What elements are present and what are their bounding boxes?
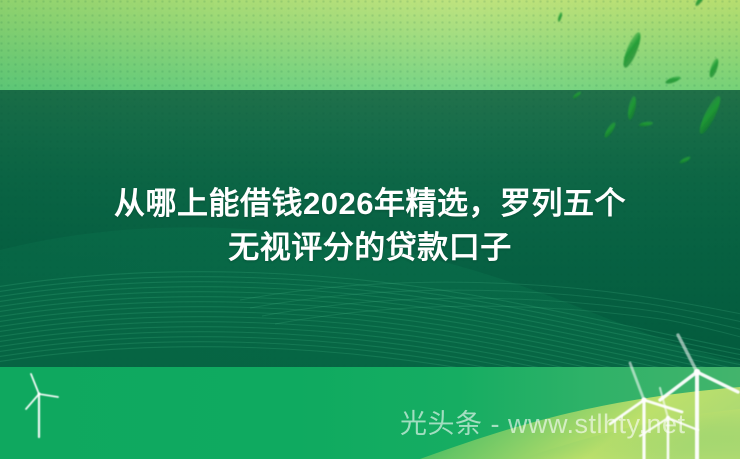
watermark: 光头条 - www.stlhty.net: [400, 408, 686, 440]
wind-turbine-large: [660, 335, 738, 459]
page-title: 从哪上能借钱2026年精选，罗列五个 无视评分的贷款口子: [0, 182, 740, 270]
poster-image: 从哪上能借钱2026年精选，罗列五个 无视评分的贷款口子 光头条 - www.s…: [0, 0, 740, 459]
wind-turbine-left: [26, 374, 58, 437]
